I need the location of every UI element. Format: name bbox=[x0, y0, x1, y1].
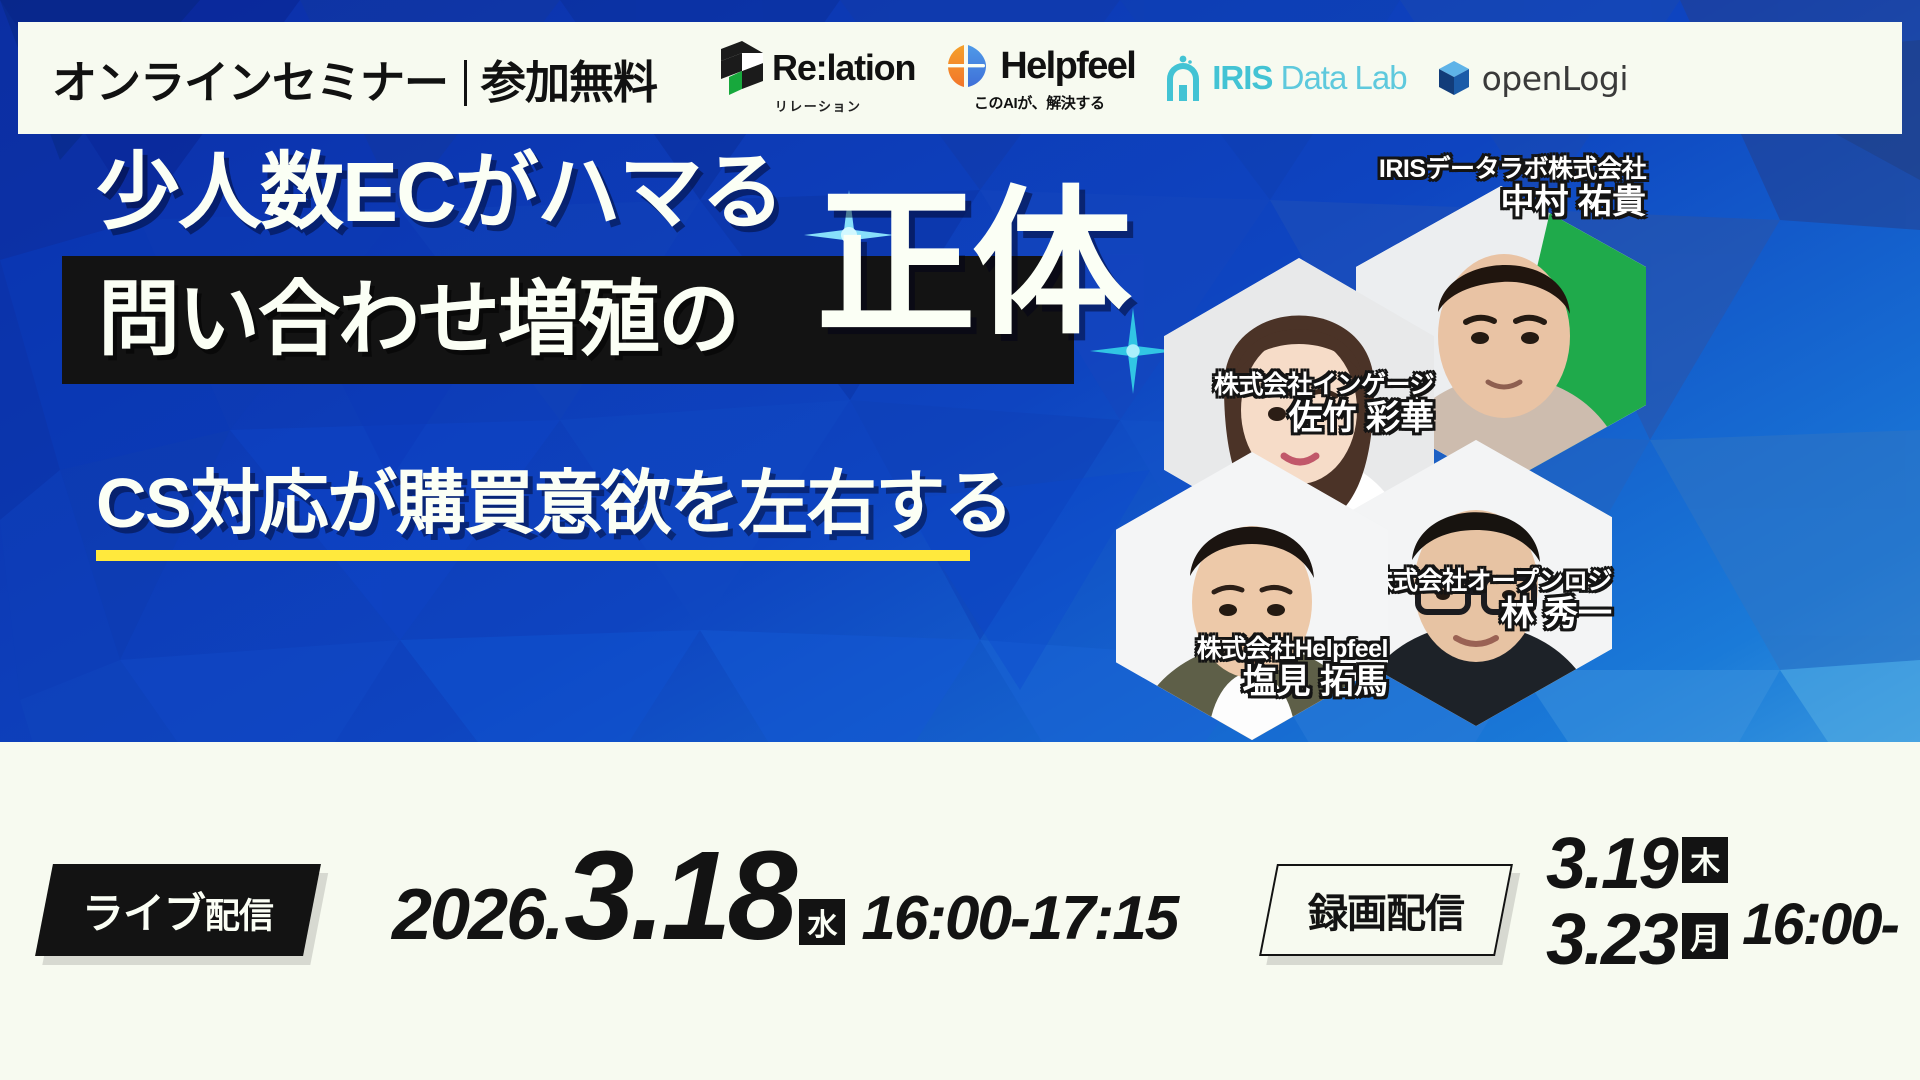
logo-helpfeel-text: Helpfeel bbox=[1000, 45, 1135, 88]
logo-openlogi-text: openLogi bbox=[1482, 59, 1628, 98]
recorded-day-to: 3.23 bbox=[1546, 904, 1676, 976]
speaker-name: 塩見 拓馬 bbox=[1030, 664, 1388, 701]
speaker-name: 中村 祐貴 bbox=[1140, 184, 1646, 221]
logo-iris-data-lab: IRIS Data Lab bbox=[1163, 55, 1406, 101]
speaker-name: 佐竹 彩華 bbox=[1090, 400, 1434, 437]
header-bar: オンラインセミナー参加無料 Re:lation リレーション bbox=[18, 22, 1902, 134]
recorded-weekday-to-badge: 月 bbox=[1682, 913, 1728, 959]
live-badge-sub: 配信 bbox=[206, 897, 274, 936]
speaker-company: 株式会社Helpfeel bbox=[1030, 636, 1388, 663]
recorded-day-from: 3.19 bbox=[1546, 828, 1676, 900]
live-date-group: 2026 . 3.18 水 16:00-17:15 bbox=[392, 846, 1177, 956]
live-weekday-badge: 水 bbox=[799, 899, 845, 945]
logo-iris-bold: IRIS bbox=[1212, 59, 1272, 96]
header-title: オンラインセミナー参加無料 bbox=[52, 46, 657, 111]
speakers-group: IRISデータラボ株式会社 中村 祐貴 bbox=[1010, 140, 1920, 760]
logo-openlogi: openLogi bbox=[1435, 58, 1628, 98]
recorded-badge-text: 録画配信 bbox=[1308, 881, 1464, 939]
recorded-date-from-row: 3.19 木 bbox=[1546, 828, 1728, 900]
headline-band-text: 問い合わせ増殖の bbox=[98, 279, 738, 361]
recorded-time: 16:00- bbox=[1742, 891, 1898, 958]
logo-relation-sub: リレーション bbox=[775, 96, 862, 115]
live-day: 3.18 bbox=[564, 846, 793, 947]
live-broadcast-badge: ライブ配信 bbox=[35, 864, 321, 956]
iris-arch-icon bbox=[1163, 55, 1203, 101]
recorded-date-to-row: 3.23 月 bbox=[1546, 904, 1728, 976]
partner-logo-row: Re:lation リレーション bbox=[721, 41, 1628, 115]
live-badge-main: ライブ bbox=[82, 890, 205, 937]
openlogi-cube-icon bbox=[1435, 58, 1473, 98]
logo-iris-text: IRIS Data Lab bbox=[1212, 59, 1406, 97]
headline-black-band: 問い合わせ増殖の 正体 bbox=[62, 256, 1074, 384]
header-title-right: 参加無料 bbox=[481, 57, 657, 108]
live-year: 2026 bbox=[392, 874, 544, 956]
recorded-broadcast-badge: 録画配信 bbox=[1259, 864, 1513, 956]
live-badge-text: ライブ配信 bbox=[82, 880, 273, 941]
logo-helpfeel-sub: このAIが、解決する bbox=[974, 92, 1105, 113]
header-title-left: オンラインセミナー bbox=[52, 57, 448, 108]
speaker-label-nakamura: IRISデータラボ株式会社 中村 祐貴 bbox=[1140, 156, 1646, 221]
speaker-label-shiomi: 株式会社Helpfeel 塩見 拓馬 bbox=[1030, 636, 1388, 701]
speaker-label-satake: 株式会社インゲージ 佐竹 彩華 bbox=[1090, 372, 1434, 437]
headline-underline bbox=[96, 550, 970, 561]
recorded-date-group: 3.19 木 3.23 月 16:00- bbox=[1546, 828, 1898, 976]
recorded-weekday-from-badge: 木 bbox=[1682, 837, 1728, 883]
schedule-bar: ライブ配信 2026 . 3.18 水 16:00-17:15 録画配信 3.1… bbox=[0, 742, 1920, 1080]
live-time: 16:00-17:15 bbox=[861, 883, 1177, 954]
speaker-company: IRISデータラボ株式会社 bbox=[1140, 156, 1646, 183]
logo-helpfeel: Helpfeel このAIが、解決する bbox=[943, 43, 1135, 113]
banner-stage: オンラインセミナー参加無料 Re:lation リレーション bbox=[0, 0, 1920, 1080]
header-separator bbox=[464, 60, 467, 106]
logo-relation-text: Re:lation bbox=[772, 47, 915, 89]
live-dot: . bbox=[544, 874, 564, 956]
logo-relation: Re:lation リレーション bbox=[721, 41, 915, 115]
helpfeel-leaf-icon bbox=[943, 43, 991, 89]
speaker-company: 株式会社インゲージ bbox=[1090, 372, 1434, 399]
logo-iris-light: Data Lab bbox=[1281, 59, 1407, 96]
relation-diamond-icon bbox=[721, 41, 763, 95]
